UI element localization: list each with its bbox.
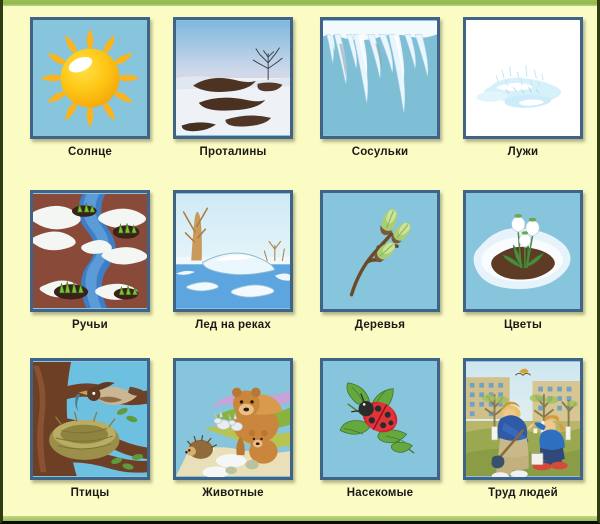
grid-cell-river-ice[interactable]: Лед на реках [160,190,306,332]
caption-streams: Ручьи [17,318,163,332]
thumbnail-icicles[interactable] [320,17,440,139]
thawed-patches-illustration [176,20,290,136]
bird-nest-illustration [33,361,147,477]
thumbnail-insects[interactable] [320,358,440,480]
grid-cell-people[interactable]: Труд людей [450,358,596,500]
caption-animals: Животные [160,486,306,500]
grid-cell-flowers[interactable]: Цветы [450,190,596,332]
caption-sun: Солнце [17,145,163,159]
sun-illustration [33,20,147,136]
budding-branch-illustration [323,193,437,309]
picture-grid: Солнце [3,6,597,516]
river-ice-illustration [176,193,290,309]
icicles-illustration [323,20,437,136]
grid-cell-sun[interactable]: Солнце [17,17,163,159]
grid-cell-streams[interactable]: Ручьи [17,190,163,332]
people-working-illustration [466,361,580,477]
slide-canvas: Солнце [3,6,597,516]
slide-root: Солнце [0,0,600,524]
caption-flowers: Цветы [450,318,596,332]
caption-thaw: Проталины [160,145,306,159]
thumbnail-birds[interactable] [30,358,150,480]
caption-insects: Насекомые [307,486,453,500]
thumbnail-river-ice[interactable] [173,190,293,312]
grid-cell-icicles[interactable]: Сосульки [307,17,453,159]
puddles-illustration [466,20,580,136]
caption-icicles: Сосульки [307,145,453,159]
caption-people: Труд людей [450,486,596,500]
thumbnail-flowers[interactable] [463,190,583,312]
thumbnail-sun[interactable] [30,17,150,139]
grid-cell-trees[interactable]: Деревья [307,190,453,332]
thumbnail-streams[interactable] [30,190,150,312]
thumbnail-thaw[interactable] [173,17,293,139]
caption-puddles: Лужи [450,145,596,159]
grid-cell-birds[interactable]: Птицы [17,358,163,500]
ladybug-illustration [323,361,437,477]
thumbnail-puddles[interactable] [463,17,583,139]
caption-trees: Деревья [307,318,453,332]
thumbnail-people[interactable] [463,358,583,480]
grid-cell-animals[interactable]: Животные [160,358,306,500]
grid-cell-insects[interactable]: Насекомые [307,358,453,500]
grid-cell-thaw[interactable]: Проталины [160,17,306,159]
snowdrops-illustration [466,193,580,309]
streams-illustration [33,193,147,309]
thumbnail-trees[interactable] [320,190,440,312]
thumbnail-animals[interactable] [173,358,293,480]
caption-birds: Птицы [17,486,163,500]
bear-family-illustration [176,361,290,477]
grid-cell-puddles[interactable]: Лужи [450,17,596,159]
caption-river-ice: Лед на реках [160,318,306,332]
